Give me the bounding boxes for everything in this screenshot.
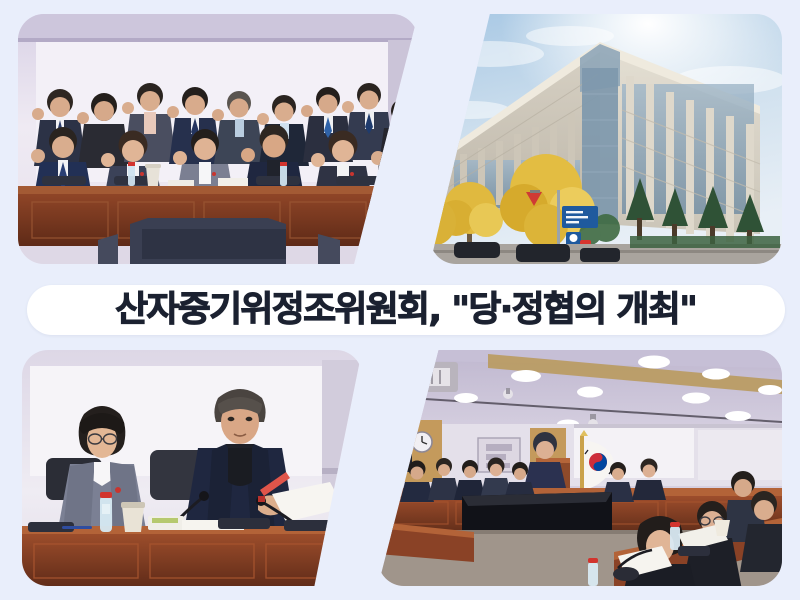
speakers-photo-illustration [22, 350, 362, 586]
speakers-photo [22, 350, 362, 586]
press-card: 산자중기위정조위원회, "당·정협의 개최" [0, 0, 800, 600]
building-photo-illustration [430, 14, 782, 264]
title-banner: 산자중기위정조위원회, "당·정협의 개최" [27, 285, 785, 335]
building-photo [430, 14, 782, 264]
roomwide-photo-illustration [378, 350, 782, 586]
roomwide-photo [378, 350, 782, 586]
page-title: 산자중기위정조위원회, "당·정협의 개최" [115, 293, 696, 328]
group-photo [18, 14, 418, 264]
group-photo-illustration [18, 14, 418, 264]
